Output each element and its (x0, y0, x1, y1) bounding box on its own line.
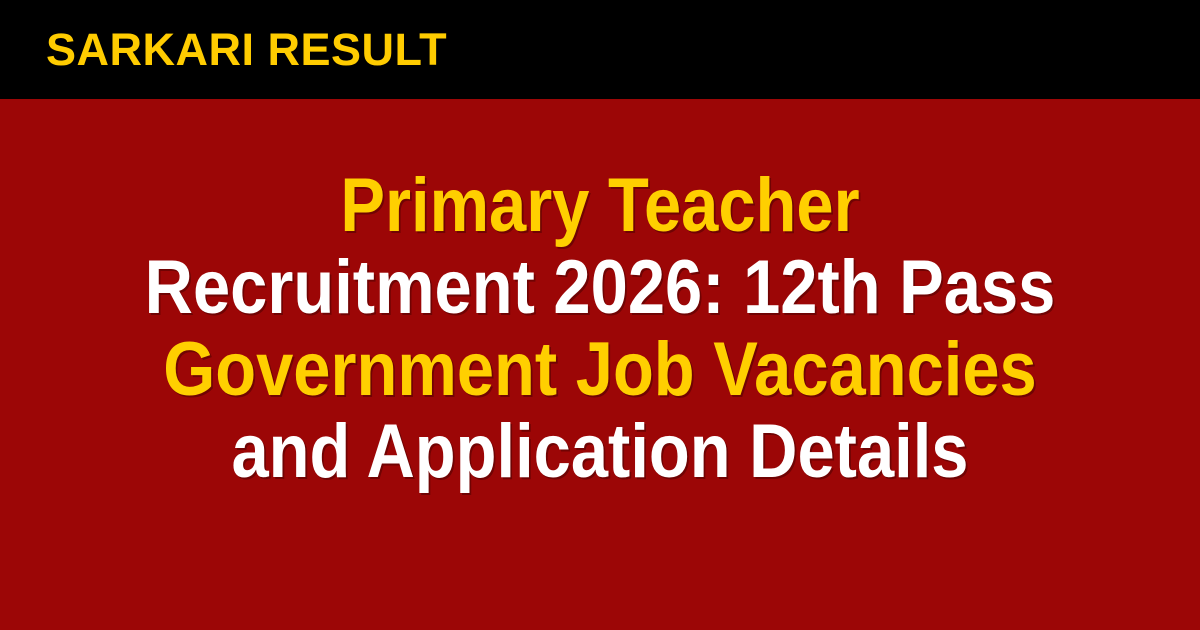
headline-line-4: and Application Details (72, 411, 1128, 493)
headline-line-1: Primary Teacher (72, 165, 1128, 247)
brand-bar: SARKARI RESULT (0, 0, 1200, 99)
headline-line-2: Recruitment 2026: 12th Pass (72, 247, 1128, 329)
headline-line-3: Government Job Vacancies (72, 329, 1128, 411)
headline-block: Primary Teacher Recruitment 2026: 12th P… (0, 99, 1200, 630)
brand-title: SARKARI RESULT (46, 27, 447, 72)
result-banner: SARKARI RESULT Primary Teacher Recruitme… (0, 0, 1200, 630)
